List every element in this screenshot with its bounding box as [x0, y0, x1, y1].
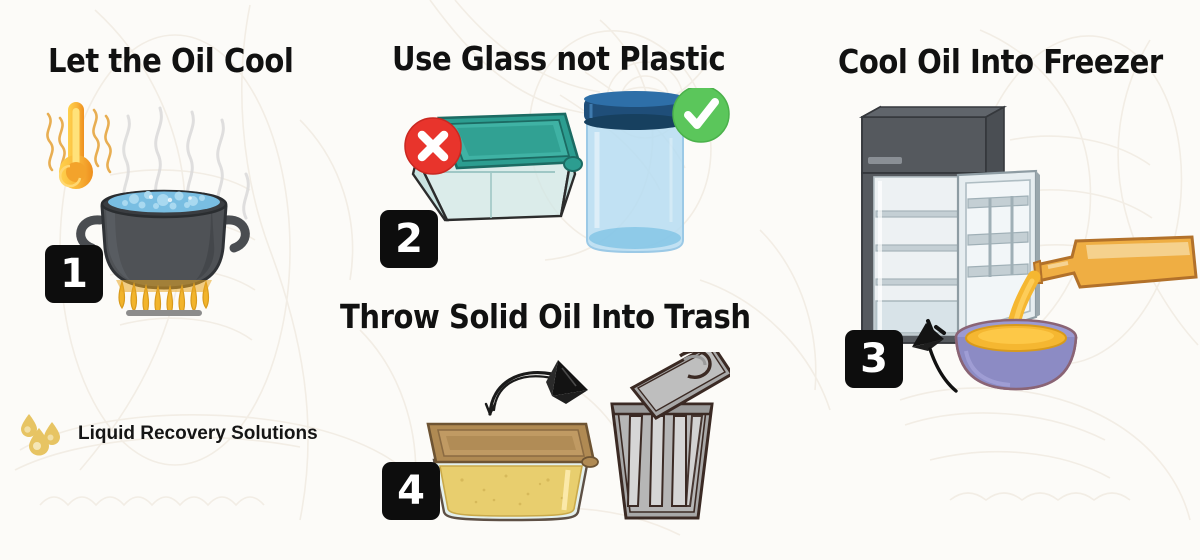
- panel-2-artwork: [395, 88, 745, 278]
- panel-title-1: Let the Oil Cool: [48, 44, 293, 77]
- step-badge-1: 1: [45, 245, 103, 303]
- curved-arrow-icon: [486, 360, 588, 414]
- brand-name: Liquid Recovery Solutions: [78, 423, 318, 445]
- glass-jar-icon: [584, 91, 686, 252]
- oil-disposal-infographic: Let the Oil Cool: [0, 0, 1200, 560]
- panel-title-4: Throw Solid Oil Into Trash: [340, 300, 751, 333]
- step-badge-4: 4: [382, 462, 440, 520]
- green-check-badge-icon: [673, 88, 729, 142]
- thermometer-hot-icon: [59, 102, 93, 189]
- panel-title-3: Cool Oil Into Freezer: [838, 45, 1163, 78]
- oil-droplets-icon: [18, 412, 66, 456]
- bowl-icon: [956, 320, 1076, 389]
- step-badge-2: 2: [380, 210, 438, 268]
- stove-flame-icon: [116, 280, 212, 316]
- solid-oil-container-icon: [428, 424, 598, 520]
- red-x-badge-icon: [405, 118, 461, 174]
- trash-can-icon: [612, 404, 712, 518]
- step-badge-3: 3: [845, 330, 903, 388]
- brand-logo: Liquid Recovery Solutions: [18, 412, 318, 456]
- panel-title-2: Use Glass not Plastic: [392, 42, 725, 75]
